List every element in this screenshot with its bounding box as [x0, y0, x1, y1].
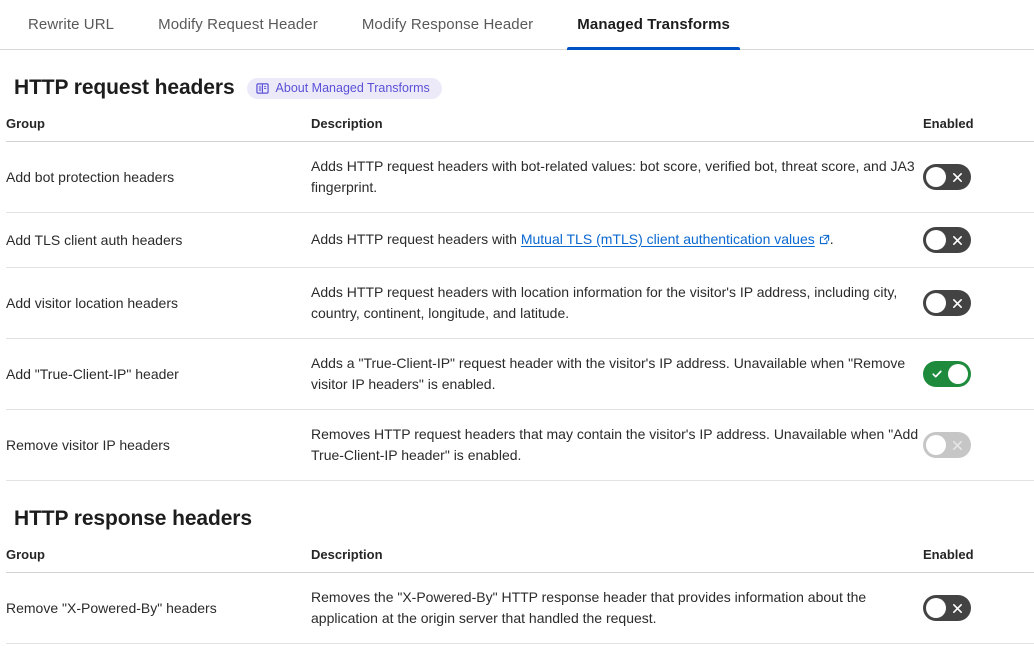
- x-icon: [952, 164, 963, 190]
- toggle-remove-visitor-ip-headers: [923, 432, 971, 458]
- row-group-label: Remove visitor IP headers: [6, 410, 311, 481]
- section-http-response-headers: HTTP response headers Group Description …: [0, 507, 1034, 653]
- row-group-label: Add security headers: [6, 644, 311, 653]
- column-header-group: Group: [6, 116, 311, 142]
- column-header-group: Group: [6, 547, 311, 573]
- row-enabled-cell: [923, 644, 1034, 653]
- toggle-knob: [926, 598, 946, 618]
- row-enabled-cell: [923, 142, 1034, 213]
- row-group-label: Add TLS client auth headers: [6, 213, 311, 268]
- external-link-icon: [819, 230, 830, 251]
- table-row: Add visitor location headers Adds HTTP r…: [6, 268, 1034, 339]
- tab-label: Modify Response Header: [362, 16, 533, 33]
- book-icon: [256, 82, 269, 95]
- toggle-knob: [926, 293, 946, 313]
- row-enabled-cell: [923, 339, 1034, 410]
- request-headers-table: Group Description Enabled Add bot protec…: [6, 116, 1034, 481]
- response-headers-table: Group Description Enabled Remove "X-Powe…: [6, 547, 1034, 653]
- toggle-knob: [926, 435, 946, 455]
- tab-label: Rewrite URL: [28, 16, 114, 33]
- table-header-row: Group Description Enabled: [6, 116, 1034, 142]
- tab-modify-response-header[interactable]: Modify Response Header: [340, 0, 555, 49]
- table-row: Add security headers Adds several securi…: [6, 644, 1034, 653]
- tab-managed-transforms[interactable]: Managed Transforms: [555, 0, 752, 49]
- x-icon: [952, 432, 963, 458]
- table-row: Add "True-Client-IP" header Adds a "True…: [6, 339, 1034, 410]
- row-group-label: Add bot protection headers: [6, 142, 311, 213]
- description-text-before: Adds HTTP request headers with: [311, 231, 521, 247]
- column-header-enabled: Enabled: [923, 547, 1034, 573]
- tab-bar: Rewrite URL Modify Request Header Modify…: [0, 0, 1034, 50]
- toggle-add-tls-client-auth-headers[interactable]: [923, 227, 971, 253]
- table-header-row: Group Description Enabled: [6, 547, 1034, 573]
- toggle-knob: [948, 364, 968, 384]
- section-http-request-headers: HTTP request headers About Managed Trans…: [0, 76, 1034, 481]
- table-row: Remove visitor IP headers Removes HTTP r…: [6, 410, 1034, 481]
- description-text-after: .: [830, 231, 834, 247]
- x-icon: [952, 290, 963, 316]
- check-icon: [931, 361, 943, 387]
- column-header-enabled: Enabled: [923, 116, 1034, 142]
- row-enabled-cell: [923, 268, 1034, 339]
- mtls-client-authentication-values-link[interactable]: Mutual TLS (mTLS) client authentication …: [521, 231, 830, 247]
- row-description: Adds a "True-Client-IP" request header w…: [311, 339, 923, 410]
- row-group-label: Remove "X-Powered-By" headers: [6, 573, 311, 644]
- toggle-add-true-client-ip-header[interactable]: [923, 361, 971, 387]
- column-header-description: Description: [311, 116, 923, 142]
- row-group-label: Add "True-Client-IP" header: [6, 339, 311, 410]
- table-row: Add TLS client auth headers Adds HTTP re…: [6, 213, 1034, 268]
- x-icon: [952, 595, 963, 621]
- tab-label: Managed Transforms: [577, 16, 730, 33]
- link-label: Mutual TLS (mTLS) client authentication …: [521, 231, 815, 247]
- toggle-remove-x-powered-by-headers[interactable]: [923, 595, 971, 621]
- section-header: HTTP response headers: [14, 507, 1028, 531]
- row-enabled-cell: [923, 410, 1034, 481]
- row-description: Removes the "X-Powered-By" HTTP response…: [311, 573, 923, 644]
- row-description: Adds HTTP request headers with location …: [311, 268, 923, 339]
- row-enabled-cell: [923, 573, 1034, 644]
- toggle-add-visitor-location-headers[interactable]: [923, 290, 971, 316]
- section-title: HTTP request headers: [14, 76, 235, 100]
- x-icon: [952, 227, 963, 253]
- toggle-knob: [926, 230, 946, 250]
- section-title: HTTP response headers: [14, 507, 252, 531]
- row-description: Adds HTTP request headers with bot-relat…: [311, 142, 923, 213]
- row-description: Removes HTTP request headers that may co…: [311, 410, 923, 481]
- row-description: Adds several security-related HTTP respo…: [311, 644, 923, 653]
- column-header-description: Description: [311, 547, 923, 573]
- toggle-knob: [926, 167, 946, 187]
- about-badge-label: About Managed Transforms: [276, 82, 430, 95]
- toggle-add-bot-protection-headers[interactable]: [923, 164, 971, 190]
- managed-transforms-page: Rewrite URL Modify Request Header Modify…: [0, 0, 1034, 653]
- section-header: HTTP request headers About Managed Trans…: [14, 76, 1028, 100]
- row-description: Adds HTTP request headers with Mutual TL…: [311, 213, 923, 268]
- about-managed-transforms-badge[interactable]: About Managed Transforms: [247, 78, 442, 99]
- row-group-label: Add visitor location headers: [6, 268, 311, 339]
- row-enabled-cell: [923, 213, 1034, 268]
- tab-label: Modify Request Header: [158, 16, 318, 33]
- table-row: Add bot protection headers Adds HTTP req…: [6, 142, 1034, 213]
- table-row: Remove "X-Powered-By" headers Removes th…: [6, 573, 1034, 644]
- tab-rewrite-url[interactable]: Rewrite URL: [6, 0, 136, 49]
- tab-modify-request-header[interactable]: Modify Request Header: [136, 0, 340, 49]
